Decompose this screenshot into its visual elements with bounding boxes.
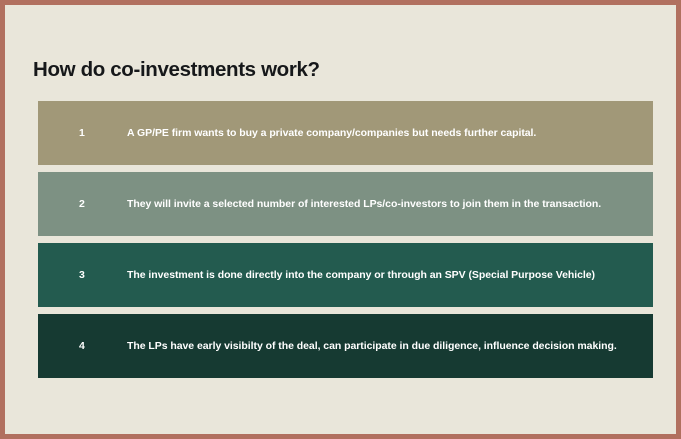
step-number: 1 bbox=[38, 127, 126, 139]
step-row: 1A GP/PE firm wants to buy a private com… bbox=[38, 101, 653, 165]
slide-frame: How do co-investments work? 1A GP/PE fir… bbox=[0, 0, 681, 439]
step-number: 3 bbox=[38, 269, 126, 281]
step-number: 2 bbox=[38, 198, 126, 210]
step-row: 3The investment is done directly into th… bbox=[38, 243, 653, 307]
steps-list: 1A GP/PE firm wants to buy a private com… bbox=[38, 101, 653, 378]
step-number: 4 bbox=[38, 340, 126, 352]
step-text: A GP/PE firm wants to buy a private comp… bbox=[127, 126, 639, 140]
step-row: 4The LPs have early visibilty of the dea… bbox=[38, 314, 653, 378]
step-text: The investment is done directly into the… bbox=[127, 268, 639, 282]
slide-canvas: How do co-investments work? 1A GP/PE fir… bbox=[5, 5, 676, 434]
step-text: The LPs have early visibilty of the deal… bbox=[127, 339, 639, 353]
step-text: They will invite a selected number of in… bbox=[127, 197, 639, 211]
step-row: 2They will invite a selected number of i… bbox=[38, 172, 653, 236]
page-title: How do co-investments work? bbox=[33, 59, 320, 82]
